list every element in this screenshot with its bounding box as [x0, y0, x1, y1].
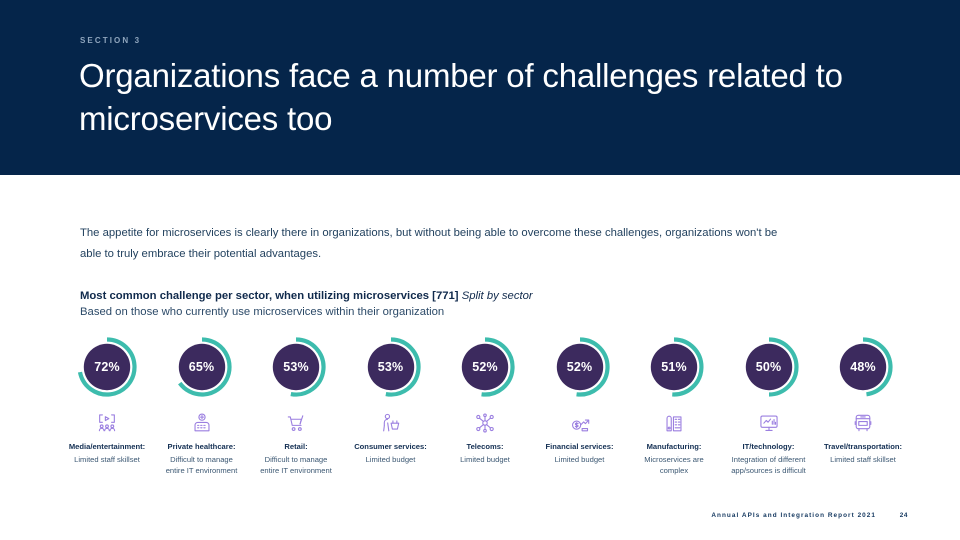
- donut-chart: 72%: [76, 336, 138, 398]
- factory-building-icon: [663, 410, 685, 436]
- sector-challenge: Integration of different: [732, 454, 806, 465]
- sector-card: 52%Telecoms:Limited budget: [438, 336, 532, 465]
- donut-chart: 50%: [738, 336, 800, 398]
- sector-challenge: Difficult to manage: [170, 454, 233, 465]
- section-kicker: SECTION 3: [80, 36, 141, 45]
- sector-card: 53%Consumer services:Limited budget: [344, 336, 438, 465]
- sector-name: Retail:: [284, 441, 307, 452]
- donut-chart: 51%: [643, 336, 705, 398]
- sector-card: 48%Travel/transportation:Limited staff s…: [816, 336, 910, 465]
- sector-challenge: Limited budget: [460, 454, 510, 465]
- sector-name: Manufacturing:: [647, 441, 702, 452]
- sector-name: Financial services:: [546, 441, 614, 452]
- sector-challenge: complex: [660, 465, 688, 476]
- shopping-cart-icon: [285, 410, 307, 436]
- donut-percentage: 53%: [265, 336, 327, 398]
- media-screen-audience-icon: [96, 410, 118, 436]
- donut-percentage: 51%: [643, 336, 705, 398]
- donut-chart: 52%: [549, 336, 611, 398]
- donut-chart: 48%: [832, 336, 894, 398]
- sector-card: 72%Media/entertainment:Limited staff ski…: [60, 336, 154, 465]
- page-header: SECTION 3 Organizations face a number of…: [0, 0, 960, 175]
- donut-percentage: 65%: [171, 336, 233, 398]
- donut-percentage: 52%: [454, 336, 516, 398]
- sector-challenge: Limited staff skillset: [74, 454, 140, 465]
- page-title: Organizations face a number of challenge…: [79, 54, 889, 140]
- network-nodes-icon: [474, 410, 496, 436]
- intro-paragraph: The appetite for microservices is clearl…: [80, 223, 800, 265]
- sector-challenge: entire IT environment: [166, 465, 238, 476]
- sector-challenge: Limited budget: [555, 454, 605, 465]
- sector-card: 53%Retail:Difficult to manageentire IT e…: [249, 336, 343, 476]
- bus-icon: [852, 410, 874, 436]
- donut-percentage: 53%: [360, 336, 422, 398]
- donut-chart: 65%: [171, 336, 233, 398]
- chart-subtitle: Based on those who currently use microse…: [80, 306, 880, 318]
- donut-percentage: 48%: [832, 336, 894, 398]
- page-footer: Annual APIs and Integration Report 2021 …: [0, 512, 960, 528]
- donut-chart: 53%: [265, 336, 327, 398]
- sector-challenge: Limited staff skillset: [830, 454, 896, 465]
- donut-chart: 53%: [360, 336, 422, 398]
- sector-challenge: app/sources is difficult: [731, 465, 806, 476]
- sector-challenge: Difficult to manage: [265, 454, 328, 465]
- hospital-cross-icon: [191, 410, 213, 436]
- footer-report-title: Annual APIs and Integration Report 2021: [711, 512, 876, 519]
- person-shopping-basket-icon: [380, 410, 402, 436]
- donut-chart: 52%: [454, 336, 516, 398]
- donut-percentage: 50%: [738, 336, 800, 398]
- sector-card: 52%Financial services:Limited budget: [533, 336, 627, 465]
- sector-challenge: Microservices are: [644, 454, 704, 465]
- sector-card: 50%IT/technology:Integration of differen…: [722, 336, 816, 476]
- sector-name: Private healthcare:: [168, 441, 236, 452]
- sector-name: Travel/transportation:: [824, 441, 902, 452]
- sector-donut-grid: 72%Media/entertainment:Limited staff ski…: [60, 336, 910, 486]
- chart-title-split: Split by sector: [462, 290, 533, 302]
- chart-title: Most common challenge per sector, when u…: [80, 288, 880, 304]
- footer-page-number: 24: [900, 512, 908, 519]
- donut-percentage: 52%: [549, 336, 611, 398]
- money-growth-arrow-icon: [569, 410, 591, 436]
- sector-card: 65%Private healthcare:Difficult to manag…: [155, 336, 249, 476]
- sector-challenge: entire IT environment: [260, 465, 332, 476]
- chart-title-main: Most common challenge per sector, when u…: [80, 290, 459, 302]
- sector-name: IT/technology:: [743, 441, 795, 452]
- sector-card: 51%Manufacturing:Microservices arecomple…: [627, 336, 721, 476]
- sector-name: Media/entertainment:: [69, 441, 145, 452]
- monitor-chart-icon: [758, 410, 780, 436]
- sector-name: Telecoms:: [467, 441, 504, 452]
- donut-percentage: 72%: [76, 336, 138, 398]
- sector-name: Consumer services:: [354, 441, 427, 452]
- sector-challenge: Limited budget: [366, 454, 416, 465]
